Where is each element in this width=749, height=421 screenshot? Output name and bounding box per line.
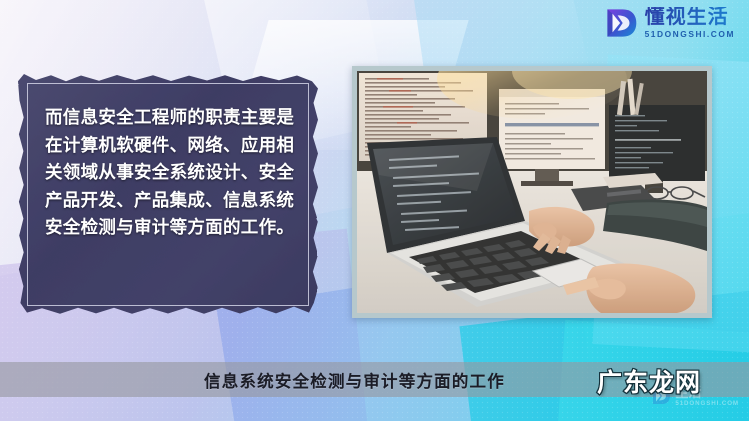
brand-logo: 懂视生活 51DONGSHI.COM	[604, 6, 735, 40]
photo-frame	[352, 66, 712, 318]
quote-panel: 而信息安全工程师的职责主要是在计算机软硬件、网络、应用相关领域从事安全系统设计、…	[18, 74, 318, 315]
watermark-ghost-domain: 51DONGSHI.COM	[675, 401, 739, 407]
channel-watermark: 生活 51DONGSHI.COM 广东龙网	[591, 357, 741, 409]
brand-logo-text: 懂视生活 51DONGSHI.COM	[645, 7, 735, 38]
quote-panel-text: 而信息安全工程师的职责主要是在计算机软硬件、网络、应用相关领域从事安全系统设计、…	[45, 104, 300, 242]
brand-name-cn: 懂视生活	[645, 7, 735, 27]
video-frame: 懂视生活 51DONGSHI.COM 而信息安全工程师的职责主要是在计算机软硬件…	[0, 0, 749, 421]
watermark-label: 广东龙网	[597, 363, 701, 399]
caption-text: 信息系统安全检测与审计等方面的工作	[204, 368, 505, 392]
brand-domain: 51DONGSHI.COM	[645, 30, 735, 38]
photo-image	[357, 71, 707, 313]
play-d-logo-icon	[604, 6, 638, 40]
